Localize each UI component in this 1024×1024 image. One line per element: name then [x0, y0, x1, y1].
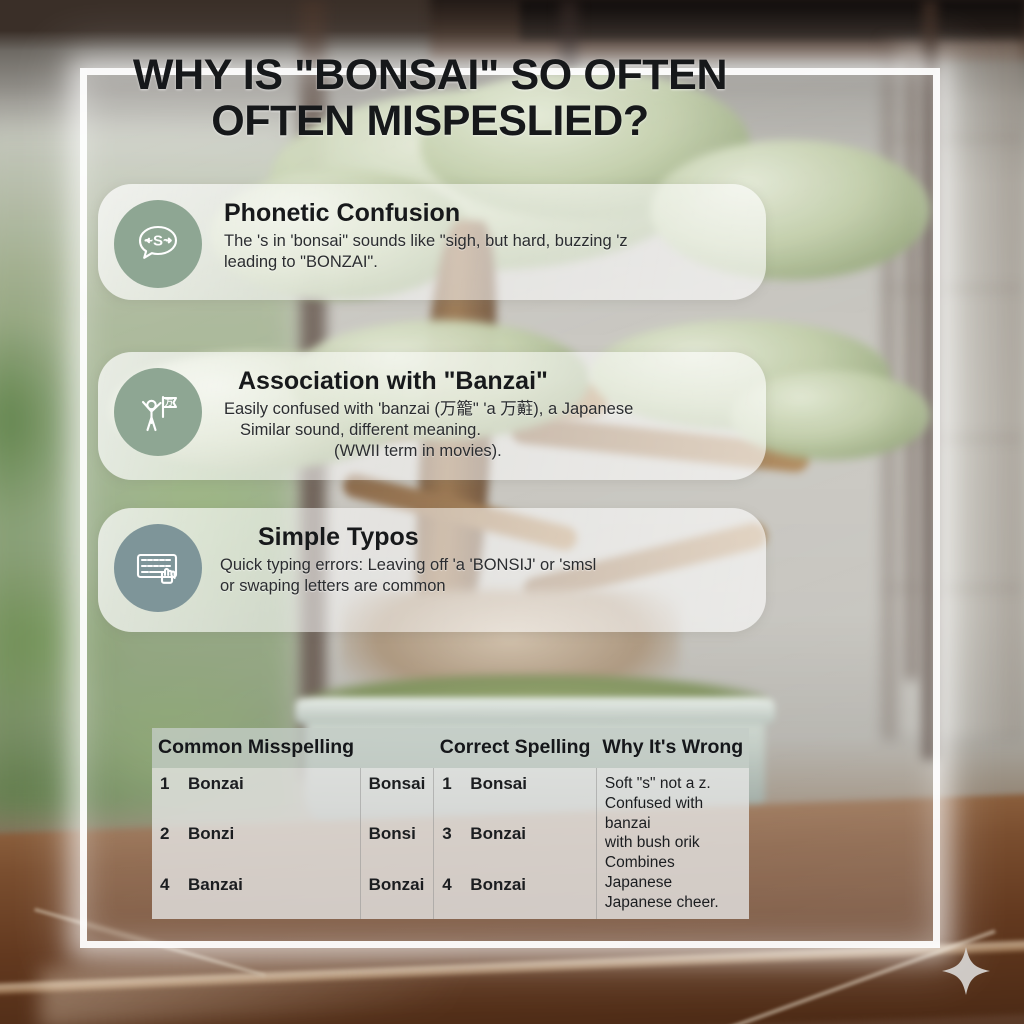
table-header-common-misspelling[interactable]: Common Misspelling [152, 728, 360, 768]
cell-misspelling: 2Bonzi [152, 818, 360, 868]
misspelling-value: Bonzi [188, 824, 234, 843]
correct-value: Bonzai [470, 875, 526, 894]
cell-secondary-spelling: Bonsai [360, 768, 434, 818]
person-waving-flag-icon: 万 [114, 368, 202, 456]
cell-misspelling: 1Bonzai [152, 768, 360, 818]
misspelling-value: Bonzai [188, 774, 244, 793]
reason-card-text-line: Quick typing errors: Leaving off 'a 'BON… [220, 555, 596, 576]
cell-correct-spelling: 3Bonzai [434, 818, 597, 868]
table-header-why-its-wrong[interactable]: Why It's Wrong [596, 728, 749, 768]
reason-card-text: The 's in 'bonsai" sounds like "sigh, bu… [224, 231, 628, 274]
cell-correct-spelling: 4Bonzai [434, 869, 597, 919]
reason-card-body: Phonetic Confusion The 's in 'bonsai" so… [202, 198, 628, 273]
reason-card-title: Association with "Banzai" [238, 368, 633, 396]
table-header-correct-spelling[interactable]: Correct Spelling [434, 728, 597, 768]
flag-glyph-label: 万 [164, 398, 173, 407]
reason-card-text-line: Easily confused with 'banzai (万籠" 'a 万蘣)… [224, 399, 633, 420]
table-header-blank [360, 728, 434, 768]
four-point-sparkle-icon [940, 945, 992, 997]
reason-card-association-banzai[interactable]: 万 Association with "Banzai" Easily confu… [98, 352, 766, 480]
row-number: 1 [442, 774, 470, 794]
reason-card-simple-typos[interactable]: Simple Typos Quick typing errors: Leavin… [98, 508, 766, 632]
cell-misspelling: 4Banzai [152, 869, 360, 919]
reason-card-text-line: or swaping letters are common [220, 576, 596, 597]
reason-card-body: Simple Typos Quick typing errors: Leavin… [202, 522, 596, 597]
table-row: 1Bonzai Bonsai 1Bonsai Soft "s" not a z.… [152, 768, 749, 818]
table-header-row: Common Misspelling Correct Spelling Why … [152, 728, 749, 768]
page-title: WHY IS "BONSAI" SO OFTEN OFTEN MISPESLIE… [80, 52, 780, 145]
reason-card-text-line: (WWII term in movies). [334, 441, 633, 462]
page-title-line-2: OFTEN MISPESLIED? [80, 98, 780, 144]
cell-secondary-spelling: Bonzai [360, 869, 434, 919]
row-number: 2 [160, 824, 188, 844]
misspelling-value: Banzai [188, 875, 243, 894]
row-number: 4 [160, 875, 188, 895]
speech-bubble-s-arrow-icon: ~S~ [114, 200, 202, 288]
reason-card-text-line: leading to "BONZAI". [224, 252, 628, 273]
reason-card-phonetic-confusion[interactable]: ~S~ Phonetic Confusion The 's in 'bonsai… [98, 184, 766, 300]
keyboard-hand-typing-icon [114, 524, 202, 612]
reason-card-text-line: The 's in 'bonsai" sounds like "sigh, bu… [224, 231, 628, 252]
reason-card-title: Simple Typos [258, 524, 596, 552]
spelling-comparison-table-wrapper: Common Misspelling Correct Spelling Why … [152, 728, 730, 919]
reason-card-title: Phonetic Confusion [224, 200, 628, 228]
spelling-comparison-table: Common Misspelling Correct Spelling Why … [152, 728, 749, 919]
cell-correct-spelling: 1Bonsai [434, 768, 597, 818]
bg-ceiling-beam-dark [520, 0, 1024, 40]
row-number: 4 [442, 875, 470, 895]
correct-value: Bonsai [470, 774, 527, 793]
reason-card-body: Association with "Banzai" Easily confuse… [202, 366, 633, 463]
correct-value: Bonzai [470, 824, 526, 843]
page-title-line-1: WHY IS "BONSAI" SO OFTEN [80, 52, 780, 98]
reason-card-text: Quick typing errors: Leaving off 'a 'BON… [220, 555, 596, 598]
cell-why-its-wrong: Soft "s" not a z. Confused with banzai w… [596, 768, 749, 919]
cell-secondary-spelling: Bonsi [360, 818, 434, 868]
reason-card-text-line: Similar sound, different meaning. [240, 420, 633, 441]
row-number: 3 [442, 824, 470, 844]
row-number: 1 [160, 774, 188, 794]
reason-card-text: Easily confused with 'banzai (万籠" 'a 万蘣)… [224, 399, 633, 463]
